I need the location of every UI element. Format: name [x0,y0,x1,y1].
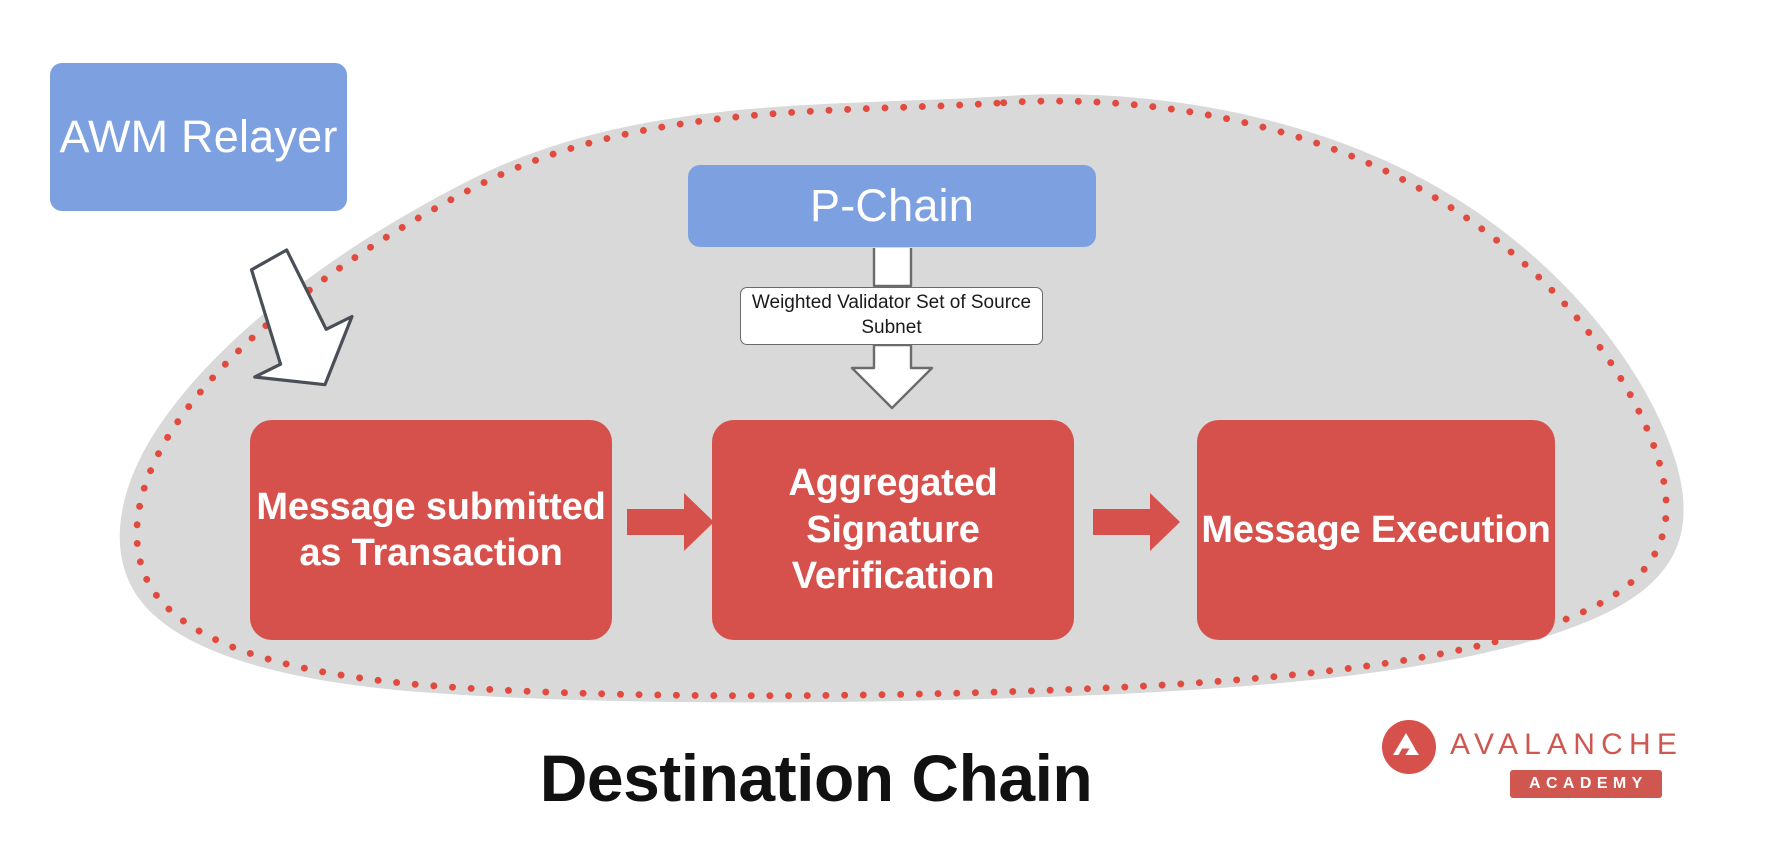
box-weighted-validator-set[interactable]: Weighted Validator Set of Source Subnet [740,287,1043,345]
box-p-chain-label: P-Chain [810,180,974,231]
pchain-to-validator-arrow-icon [874,248,911,286]
box-weighted-validator-set-label: Weighted Validator Set of Source Subnet [741,291,1042,340]
relayer-to-chain-arrow-icon [242,244,359,392]
logo-wordmark: AVALANCHE [1450,728,1683,762]
flow-step-signature-verification-label: Aggregated Signature Verification [712,460,1074,599]
avalanche-triangle-mark-icon [1382,720,1436,774]
page-title-text: Destination Chain [540,740,1093,816]
box-awm-relayer-label: AWM Relayer [59,111,337,162]
step2-to-step3-arrow-icon [1093,493,1180,551]
box-p-chain[interactable]: P-Chain [688,165,1096,247]
diagram-canvas: AWM Relayer P-Chain Weighted Validator S… [0,0,1792,848]
flow-step-message-execution-label: Message Execution [1201,507,1550,553]
box-awm-relayer[interactable]: AWM Relayer [50,63,347,211]
logo-academy-badge: ACADEMY [1510,770,1662,798]
flow-step-message-execution[interactable]: Message Execution [1197,420,1555,640]
flow-step-message-submitted[interactable]: Message submitted as Transaction [250,420,612,640]
avalanche-academy-logo: AVALANCHE ACADEMY [1382,716,1654,796]
flow-step-signature-verification[interactable]: Aggregated Signature Verification [712,420,1074,640]
step1-to-step2-arrow-icon [627,493,714,551]
validator-to-verify-arrow-icon [852,345,932,408]
flow-step-message-submitted-label: Message submitted as Transaction [250,484,612,577]
